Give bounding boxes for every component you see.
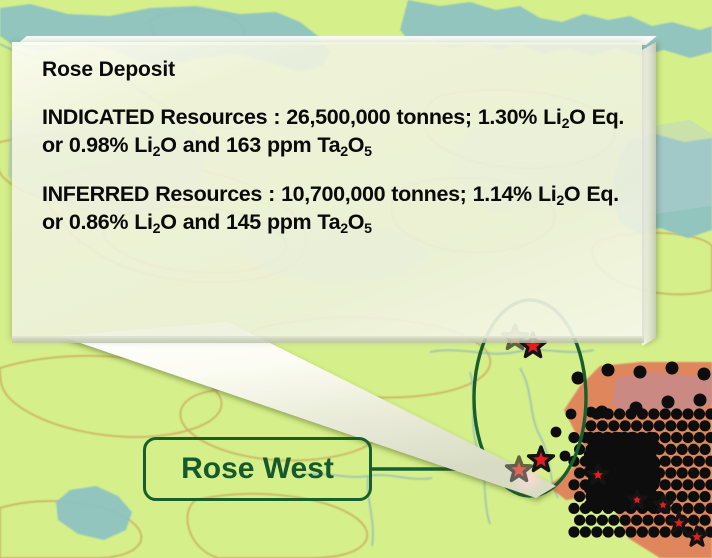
drill-hole-dot (671, 408, 682, 419)
drill-hole-dot (597, 420, 608, 431)
drill-hole-dot (694, 479, 705, 490)
drill-hole-dot (574, 515, 585, 526)
drill-hole-dot (585, 515, 596, 526)
drill-hole-dot (660, 408, 671, 419)
drill-hole-dot (698, 368, 711, 381)
drill-hole-dot (603, 526, 614, 537)
drill-hole-dot (620, 515, 631, 526)
drill-hole-dot (660, 456, 671, 467)
drill-hole-dot (662, 396, 675, 409)
drill-hole-dot (551, 427, 562, 438)
drill-hole-dot (682, 479, 693, 490)
drill-hole-dot (631, 515, 642, 526)
drill-hole-dot (597, 515, 608, 526)
rose-west-label-box[interactable]: Rose West (143, 437, 372, 501)
info-box-text: Rose Deposit INDICATED Resources : 26,50… (42, 58, 632, 237)
rose-west-label-text: Rose West (181, 452, 334, 486)
drill-hole-dot (614, 526, 625, 537)
drill-hole-dot (568, 479, 579, 490)
drill-hole-dot (574, 491, 585, 502)
drill-hole-dot (585, 420, 596, 431)
drill-hole-dot (694, 456, 705, 467)
drill-hole-dot (688, 420, 699, 431)
drill-hole-dot (595, 492, 606, 503)
drill-hole-dot (574, 467, 585, 478)
drill-hole-dot (699, 467, 710, 478)
rose-deposit-info-box: Rose Deposit INDICATED Resources : 26,50… (12, 42, 656, 344)
drill-hole-dot (608, 515, 619, 526)
drill-hole-dot (660, 479, 671, 490)
drill-hole-dot (694, 408, 705, 419)
drill-hole-dot (688, 467, 699, 478)
drill-hole-dot (682, 408, 693, 419)
drill-hole-dot (648, 526, 659, 537)
drill-hole-dot (654, 420, 665, 431)
drill-hole-dot (634, 366, 647, 379)
drill-hole-dot (677, 420, 688, 431)
drill-hole-dot (602, 364, 615, 377)
drill-hole-dot (614, 408, 625, 419)
drill-hole-dot (677, 444, 688, 455)
drill-hole-dot (665, 467, 676, 478)
drill-hole-dot (671, 479, 682, 490)
drill-hole-dot (591, 526, 602, 537)
drill-hole-dot (699, 515, 710, 526)
drill-hole-dot (568, 432, 579, 443)
drill-hole-dot (625, 408, 636, 419)
drill-hole-dot (631, 420, 642, 431)
info-box-bottom-bevel (12, 336, 644, 343)
drill-hole-dot (648, 408, 659, 419)
drill-hole-dot (625, 526, 636, 537)
drill-hole-dot (671, 432, 682, 443)
drill-hole-dot (694, 432, 705, 443)
drill-hole-dot (572, 372, 585, 385)
drill-hole-dot (603, 408, 614, 419)
drill-hole-dot (566, 409, 577, 420)
drill-hole-dot (694, 394, 707, 407)
map-slide: Rose Deposit INDICATED Resources : 26,50… (0, 0, 712, 558)
drill-hole-dot (560, 451, 571, 462)
indicated-resources-paragraph: INDICATED Resources : 26,500,000 tonnes;… (42, 103, 632, 160)
drill-hole-dot (688, 444, 699, 455)
drill-hole-dot (688, 491, 699, 502)
drill-hole-dot (660, 432, 671, 443)
drill-hole-dot (677, 491, 688, 502)
drill-hole-dot (637, 408, 648, 419)
info-box-title: Rose Deposit (42, 58, 632, 81)
drill-hole-dot (665, 444, 676, 455)
drill-hole-dot (682, 456, 693, 467)
drill-hole-dot (699, 444, 710, 455)
drill-hole-dot (580, 526, 591, 537)
drill-hole-dot (682, 503, 693, 514)
drill-hole-dot (694, 503, 705, 514)
drill-hole-dot (677, 467, 688, 478)
drill-hole-dot (666, 362, 679, 375)
drill-hole-dot (642, 515, 653, 526)
drill-hole-dot (660, 526, 671, 537)
drill-hole-dot (637, 526, 648, 537)
drill-hole-dot (568, 503, 579, 514)
drill-hole-dot (642, 420, 653, 431)
drill-hole-dot (608, 420, 619, 431)
drill-hole-dot (665, 420, 676, 431)
drill-hole-dot (654, 515, 665, 526)
drill-hole-dot (671, 456, 682, 467)
info-box-right-bevel (642, 42, 656, 346)
inferred-resources-paragraph: INFERRED Resources : 10,700,000 tonnes; … (42, 180, 632, 237)
drill-hole-dot (682, 432, 693, 443)
drill-hole-dot (699, 491, 710, 502)
drill-hole-dot (568, 526, 579, 537)
drill-hole-dot (620, 420, 631, 431)
drill-hole-dot (699, 420, 710, 431)
